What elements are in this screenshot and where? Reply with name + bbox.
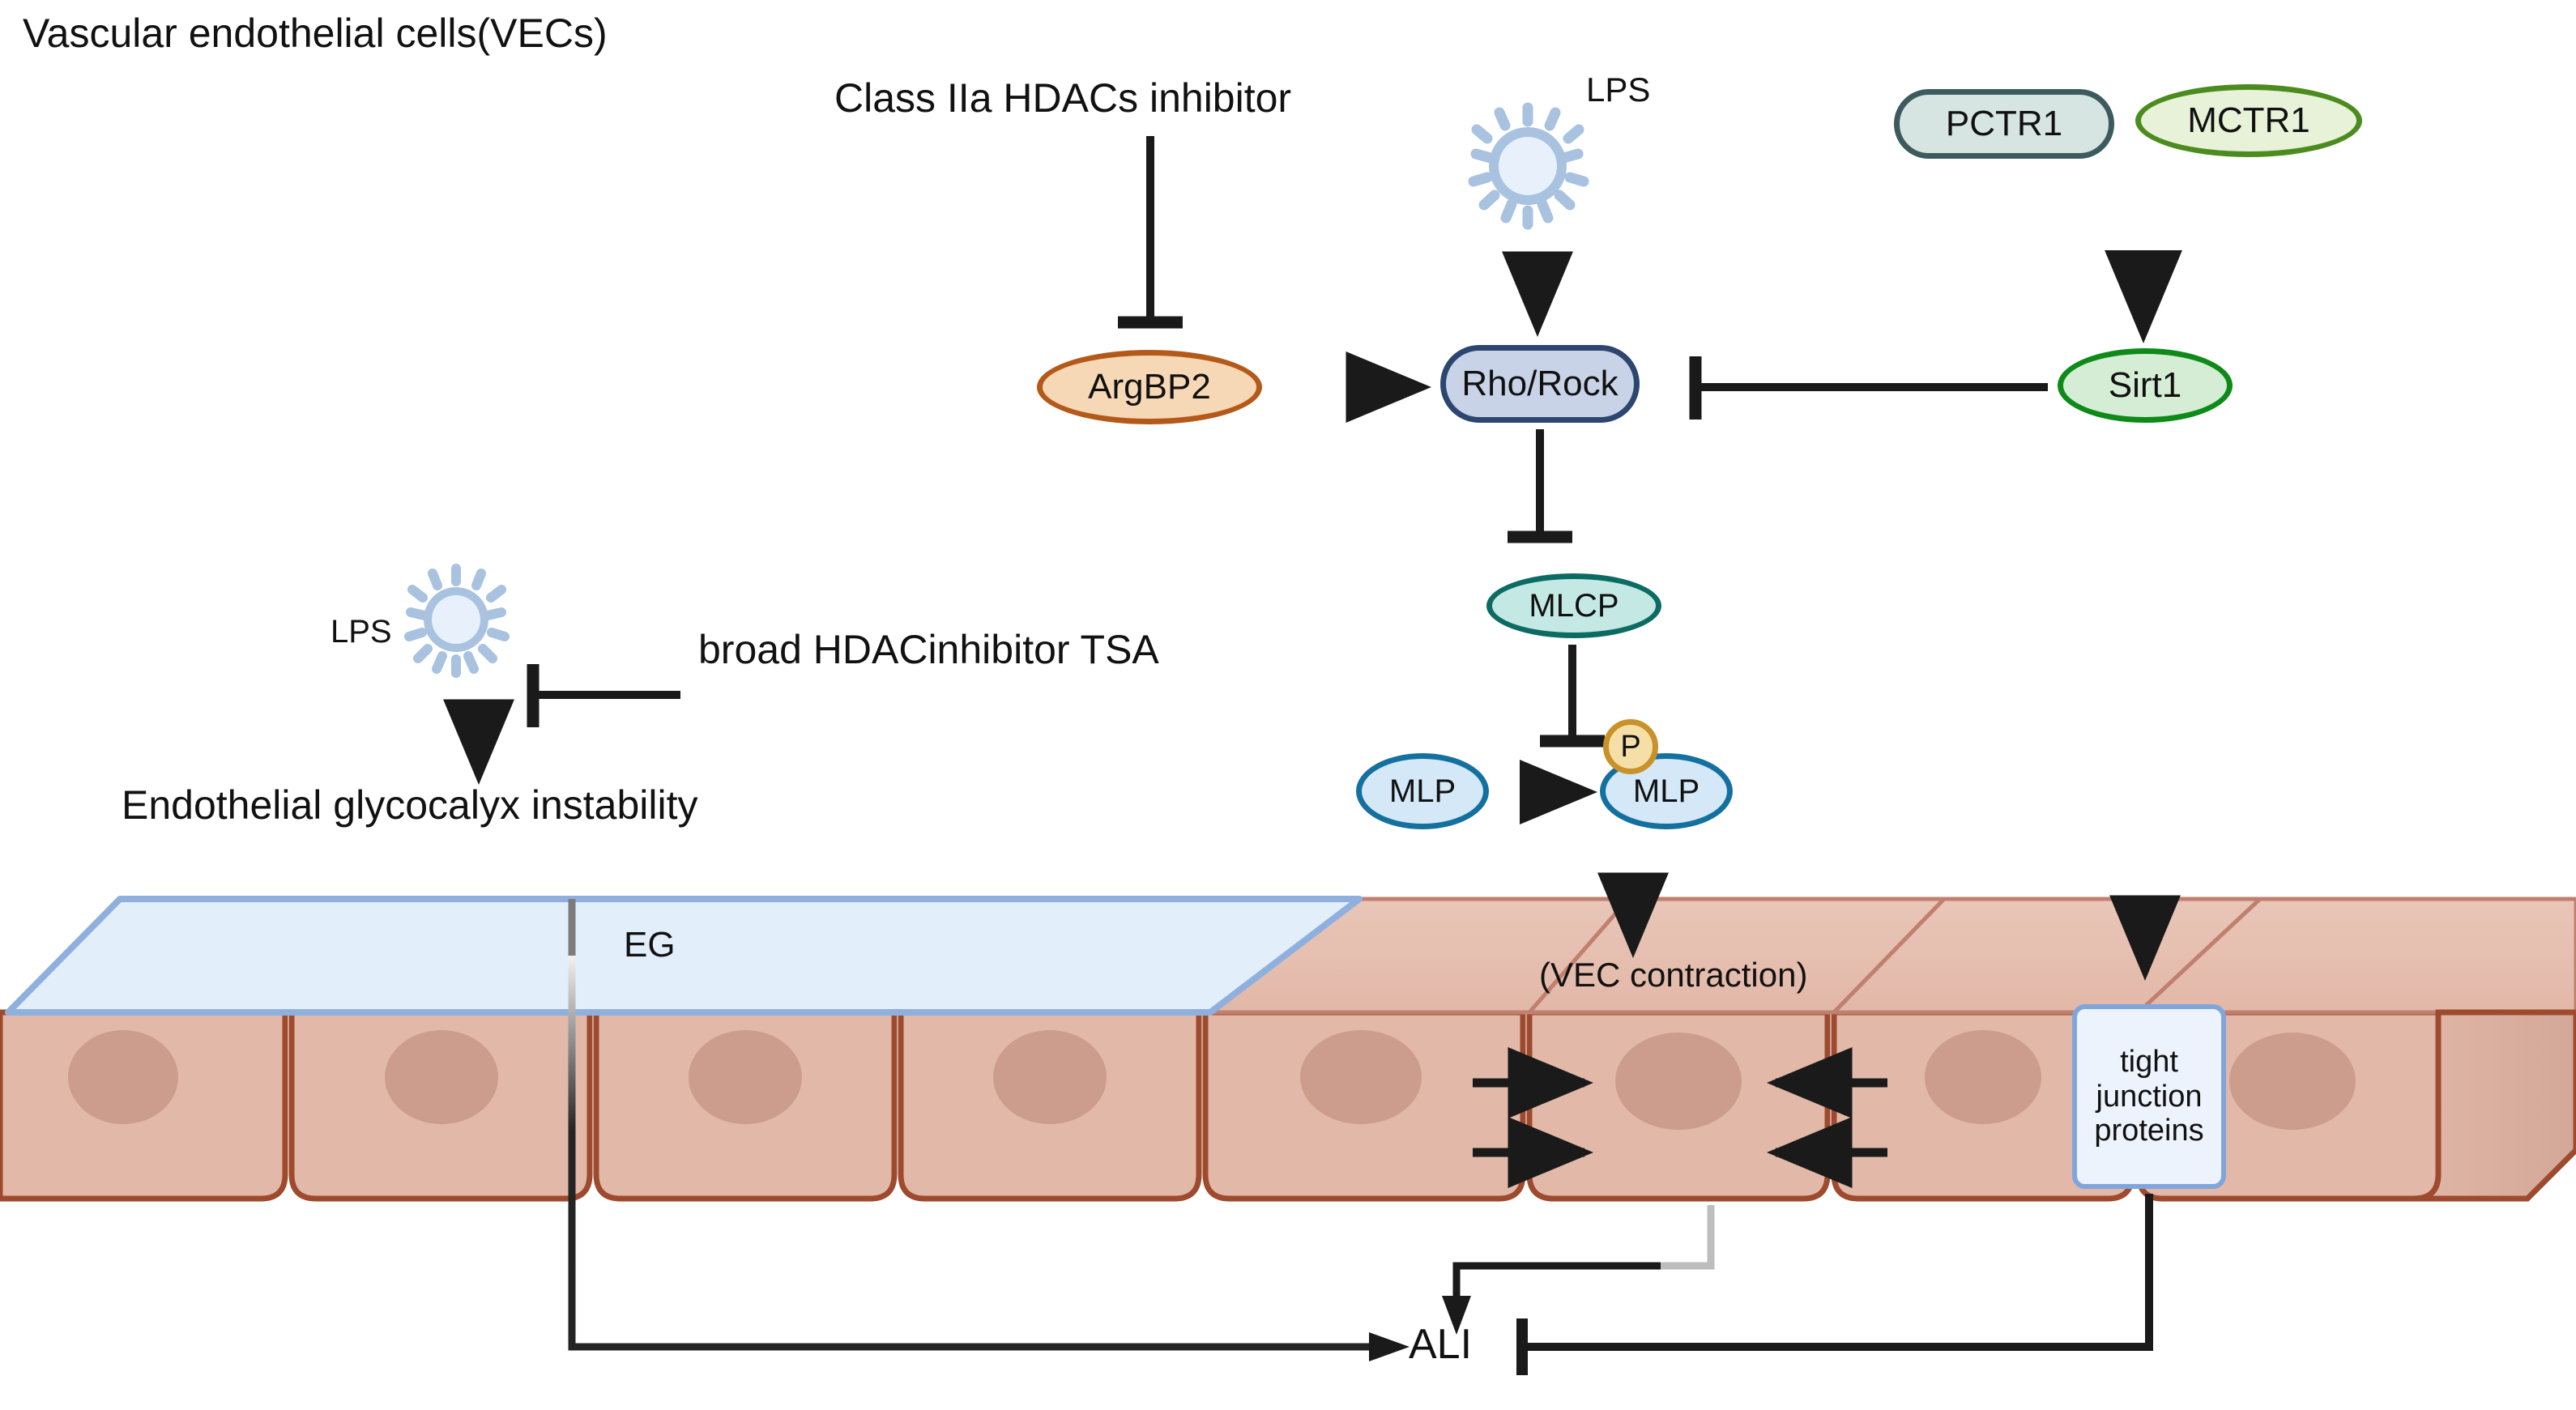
pathway-diagram-canvas: Vascular endothelial cells(VECs) Class I… (0, 0, 2576, 1410)
lps-particle-left (409, 569, 505, 673)
tsa-line-1: broad HDAC (698, 627, 928, 672)
lps-label-top: LPS (1586, 70, 1650, 109)
lps-particle-top (1474, 108, 1584, 224)
glycocalyx-instability-label: Endothelial glycocalyx instability (122, 782, 697, 829)
page-title: Vascular endothelial cells(VECs) (23, 10, 608, 57)
broad-hdac-inhibitor-tsa-label: broad HDACinhibitor TSA (698, 625, 1159, 674)
node-rho-rock[interactable]: Rho/Rock (1440, 345, 1640, 423)
node-tight-junction-proteins[interactable]: tight junction proteins (2072, 1004, 2226, 1189)
edge-vec-contraction-to-ali (1442, 1205, 1711, 1335)
class-iia-hdac-inhibitor-label: Class IIa HDACs inhibitor (834, 75, 1291, 121)
node-mlcp-label: MLCP (1529, 588, 1619, 624)
tjp-line-3: proteins (2094, 1114, 2203, 1148)
eg-layer-label: EG (624, 925, 676, 965)
node-sirt1[interactable]: Sirt1 (2058, 348, 2233, 423)
node-mctr1-label: MCTR1 (2187, 100, 2310, 140)
node-mlp-unphos-label: MLP (1389, 773, 1456, 810)
tjp-line-1: tight (2094, 1045, 2203, 1080)
node-mlp-phos-label: MLP (1633, 773, 1700, 810)
vec-contraction-label: (VEC contraction) (1539, 956, 1807, 995)
eg-glycocalyx-layer (8, 899, 1359, 1012)
edge-rhorock-inhibits-mlcp (1508, 429, 1572, 537)
node-argbp2-label: ArgBP2 (1088, 367, 1211, 407)
diagram-vector-layer (0, 0, 2576, 1410)
tjp-line-2: junction (2094, 1080, 2203, 1114)
tsa-line-2: inhibitor TSA (928, 627, 1158, 672)
edge-tsa-inhibits-lps-glycocalyx (531, 664, 680, 727)
node-mctr1[interactable]: MCTR1 (2135, 84, 2362, 157)
node-mlp-unphosphorylated[interactable]: MLP (1356, 753, 1489, 829)
node-rho-rock-label: Rho/Rock (1461, 364, 1618, 403)
phosphate-label: P (1620, 730, 1640, 765)
edge-tight-junction-inhibits-ali (1520, 1194, 2149, 1375)
node-pctr1[interactable]: PCTR1 (1894, 89, 2114, 159)
lps-label-left: LPS (331, 614, 392, 650)
ali-outcome-label: ALI (1409, 1320, 1472, 1369)
node-sirt1-label: Sirt1 (2109, 365, 2181, 405)
edge-sirt1-inhibits-rhorock (1693, 356, 2048, 420)
edge-class2a-inhibits-argbp2 (1118, 136, 1183, 322)
node-mlcp[interactable]: MLCP (1486, 573, 1661, 638)
node-pctr1-label: PCTR1 (1946, 104, 2062, 143)
edge-mlcp-inhibits-mlp-phos (1540, 645, 1605, 741)
phosphate-group-icon[interactable]: P (1603, 719, 1658, 774)
node-argbp2[interactable]: ArgBP2 (1037, 350, 1262, 424)
